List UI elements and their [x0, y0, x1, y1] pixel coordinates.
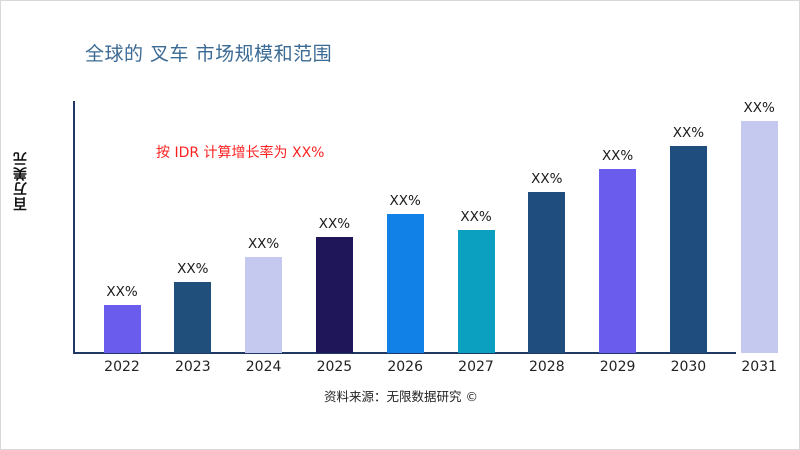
bar-value-label: XX%	[454, 209, 498, 225]
bar-value-label: XX%	[525, 171, 569, 187]
x-tick-label-2031: 2031	[735, 359, 783, 375]
x-tick-label-2028: 2028	[523, 359, 571, 375]
bar-2028[interactable]	[528, 192, 565, 353]
bar-value-label: XX%	[241, 236, 285, 252]
bar-2025[interactable]	[316, 237, 353, 353]
x-tick-label-2030: 2030	[664, 359, 712, 375]
bar-2027[interactable]	[458, 230, 495, 353]
bar-group[interactable]: XX%2031	[741, 121, 778, 353]
x-tick-label-2026: 2026	[381, 359, 429, 375]
chart-screenshot: 全球的 叉车 市场规模和范围 百万美元 按 IDR 计算增长率为 XX% XX%…	[0, 0, 800, 450]
x-tick-label-2025: 2025	[310, 359, 358, 375]
bar-group[interactable]: XX%2028	[528, 192, 565, 353]
bar-2031[interactable]	[741, 121, 778, 353]
bar-group[interactable]: XX%2026	[387, 214, 424, 353]
bar-value-label: XX%	[737, 100, 781, 116]
bar-2023[interactable]	[174, 282, 211, 353]
bar-group[interactable]: XX%2029	[599, 169, 636, 353]
bar-group[interactable]: XX%2023	[174, 282, 211, 353]
source-note: 资料来源：无限数据研究 ©	[1, 386, 800, 405]
bar-value-label: XX%	[666, 125, 710, 141]
bar-value-label: XX%	[383, 193, 427, 209]
bar-2024[interactable]	[245, 257, 282, 353]
bar-value-label: XX%	[171, 261, 215, 277]
bar-2022[interactable]	[104, 305, 141, 353]
bar-group[interactable]: XX%2030	[670, 146, 707, 353]
x-tick-label-2022: 2022	[98, 359, 146, 375]
bar-value-label: XX%	[595, 148, 639, 164]
bar-2026[interactable]	[387, 214, 424, 353]
bar-2029[interactable]	[599, 169, 636, 353]
x-tick-label-2024: 2024	[240, 359, 288, 375]
bar-group[interactable]: XX%2025	[316, 237, 353, 353]
bar-value-label: XX%	[312, 216, 356, 232]
bars-layer: XX%2022XX%2023XX%2024XX%2025XX%2026XX%20…	[1, 1, 800, 450]
bar-value-label: XX%	[100, 284, 144, 300]
bar-group[interactable]: XX%2024	[245, 257, 282, 353]
bar-2030[interactable]	[670, 146, 707, 353]
x-tick-label-2023: 2023	[169, 359, 217, 375]
bar-group[interactable]: XX%2027	[458, 230, 495, 353]
bar-group[interactable]: XX%2022	[104, 305, 141, 353]
x-tick-label-2027: 2027	[452, 359, 500, 375]
x-tick-label-2029: 2029	[594, 359, 642, 375]
